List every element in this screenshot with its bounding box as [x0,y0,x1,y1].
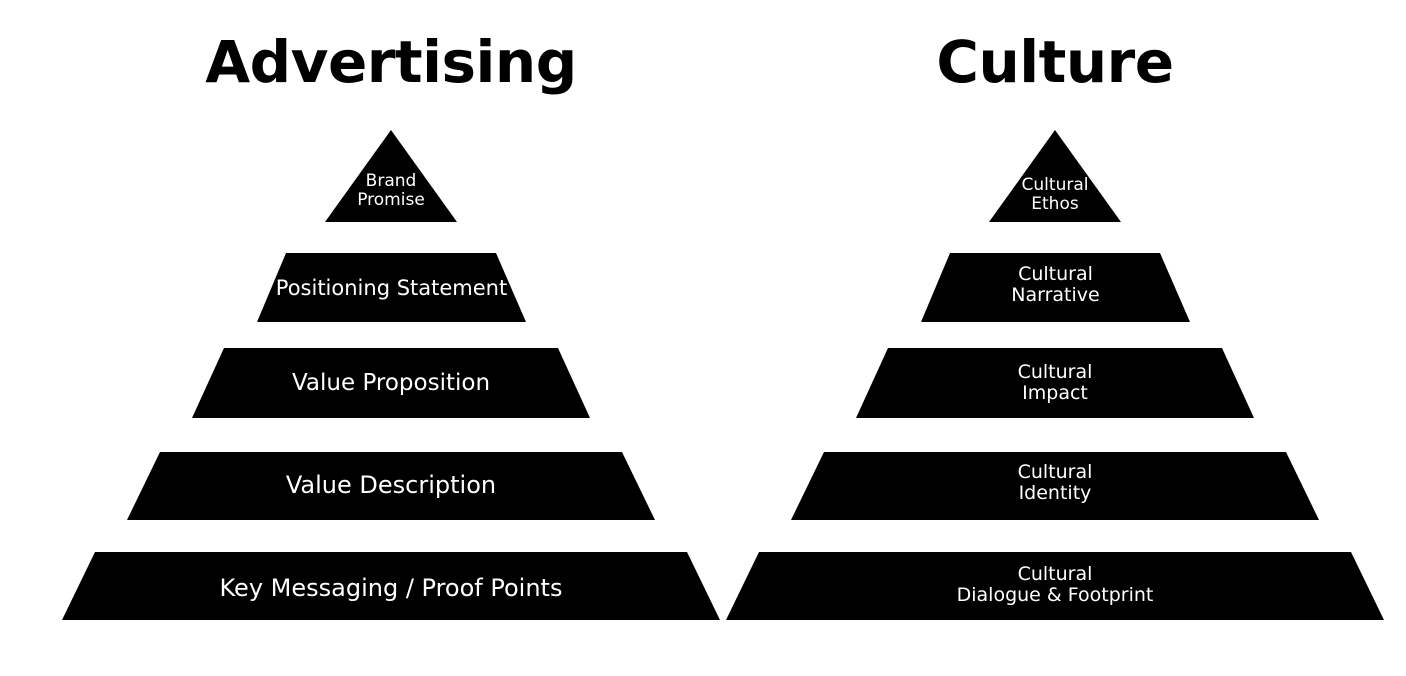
right-level-1-shape[interactable] [989,130,1121,222]
left-level-1-shape[interactable] [325,130,457,222]
left-level-4-shape[interactable] [127,452,655,520]
right-level-3-shape[interactable] [856,348,1254,418]
left-level-3-shape[interactable] [192,348,590,418]
pyramid-right-shapes [726,130,1384,620]
pyramid-left-shapes [62,130,720,620]
left-level-5-shape[interactable] [62,552,720,620]
right-level-5-shape[interactable] [726,552,1384,620]
pyramid-shapes [0,0,1406,676]
right-level-2-shape[interactable] [921,253,1190,322]
left-level-2-shape[interactable] [257,253,526,322]
diagram-canvas: Advertising Culture Brand Promise Positi… [0,0,1406,676]
right-level-4-shape[interactable] [791,452,1319,520]
